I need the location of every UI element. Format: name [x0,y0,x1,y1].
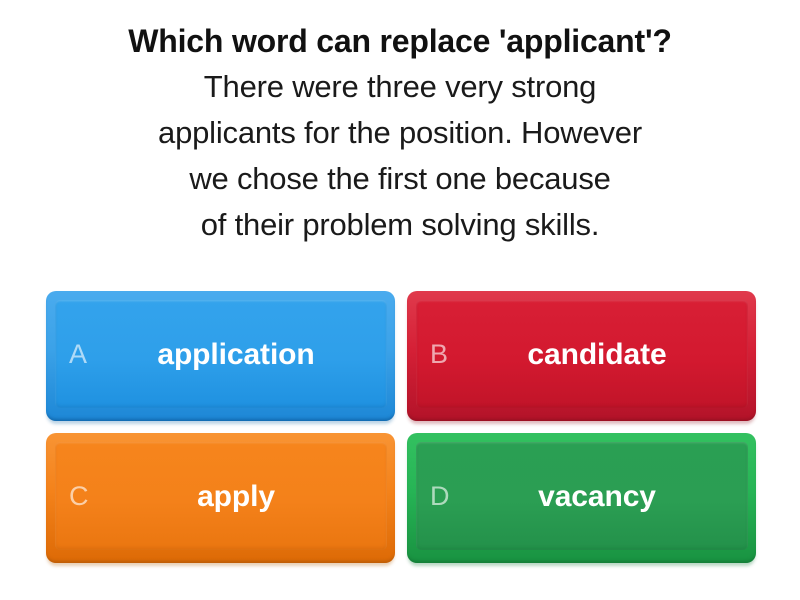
quiz-slide: Which word can replace 'applicant'? Ther… [0,0,800,600]
question-body-line: of their problem solving skills. [18,202,782,248]
answer-option-b-label: candidate [464,338,738,371]
answer-option-c[interactable]: C apply [46,433,395,563]
question-body-line: applicants for the position. However [18,110,782,156]
question-body-line: we chose the first one because [18,156,782,202]
answer-options-grid: A application B candidate C apply D vaca… [46,291,756,563]
answer-option-c-letter: C [69,483,103,510]
question-body: There were three very strong applicants … [18,64,782,248]
answer-option-c-face: C apply [55,442,387,550]
answer-option-a-face: A application [55,300,387,408]
answer-option-d-face: D vacancy [416,442,748,550]
answer-option-c-label: apply [103,480,377,513]
question-body-line: There were three very strong [18,64,782,110]
answer-option-d-letter: D [430,483,464,510]
answer-option-b-face: B candidate [416,300,748,408]
answer-option-b[interactable]: B candidate [407,291,756,421]
answer-option-d[interactable]: D vacancy [407,433,756,563]
answer-option-d-label: vacancy [464,480,738,513]
answer-option-b-letter: B [430,341,464,368]
question-title: Which word can replace 'applicant'? [18,18,782,64]
answer-option-a-label: application [103,338,377,371]
question-block: Which word can replace 'applicant'? Ther… [0,18,800,248]
answer-option-a-letter: A [69,341,103,368]
answer-option-a[interactable]: A application [46,291,395,421]
